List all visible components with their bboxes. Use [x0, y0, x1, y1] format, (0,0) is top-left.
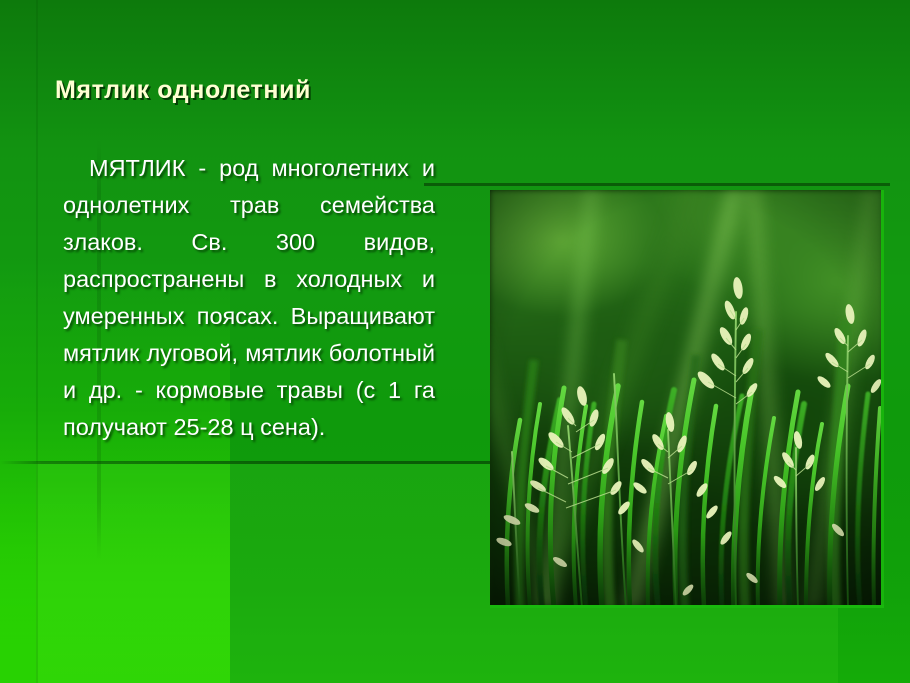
- slide-title: Мятлик однолетний: [55, 76, 311, 105]
- slide-canvas: Мятлик однолетний МЯТЛИК - род многолетн…: [0, 0, 910, 683]
- photo-edge-bottom: [490, 605, 884, 608]
- slide-body-text: МЯТЛИК - род многолетних и однолетних тр…: [63, 150, 435, 446]
- background-panel-edge: [36, 0, 38, 683]
- photo-edge-right: [881, 190, 884, 608]
- divider-rule-top: [424, 183, 890, 186]
- grass-photo: [490, 190, 884, 608]
- photo-vignette: [490, 190, 884, 608]
